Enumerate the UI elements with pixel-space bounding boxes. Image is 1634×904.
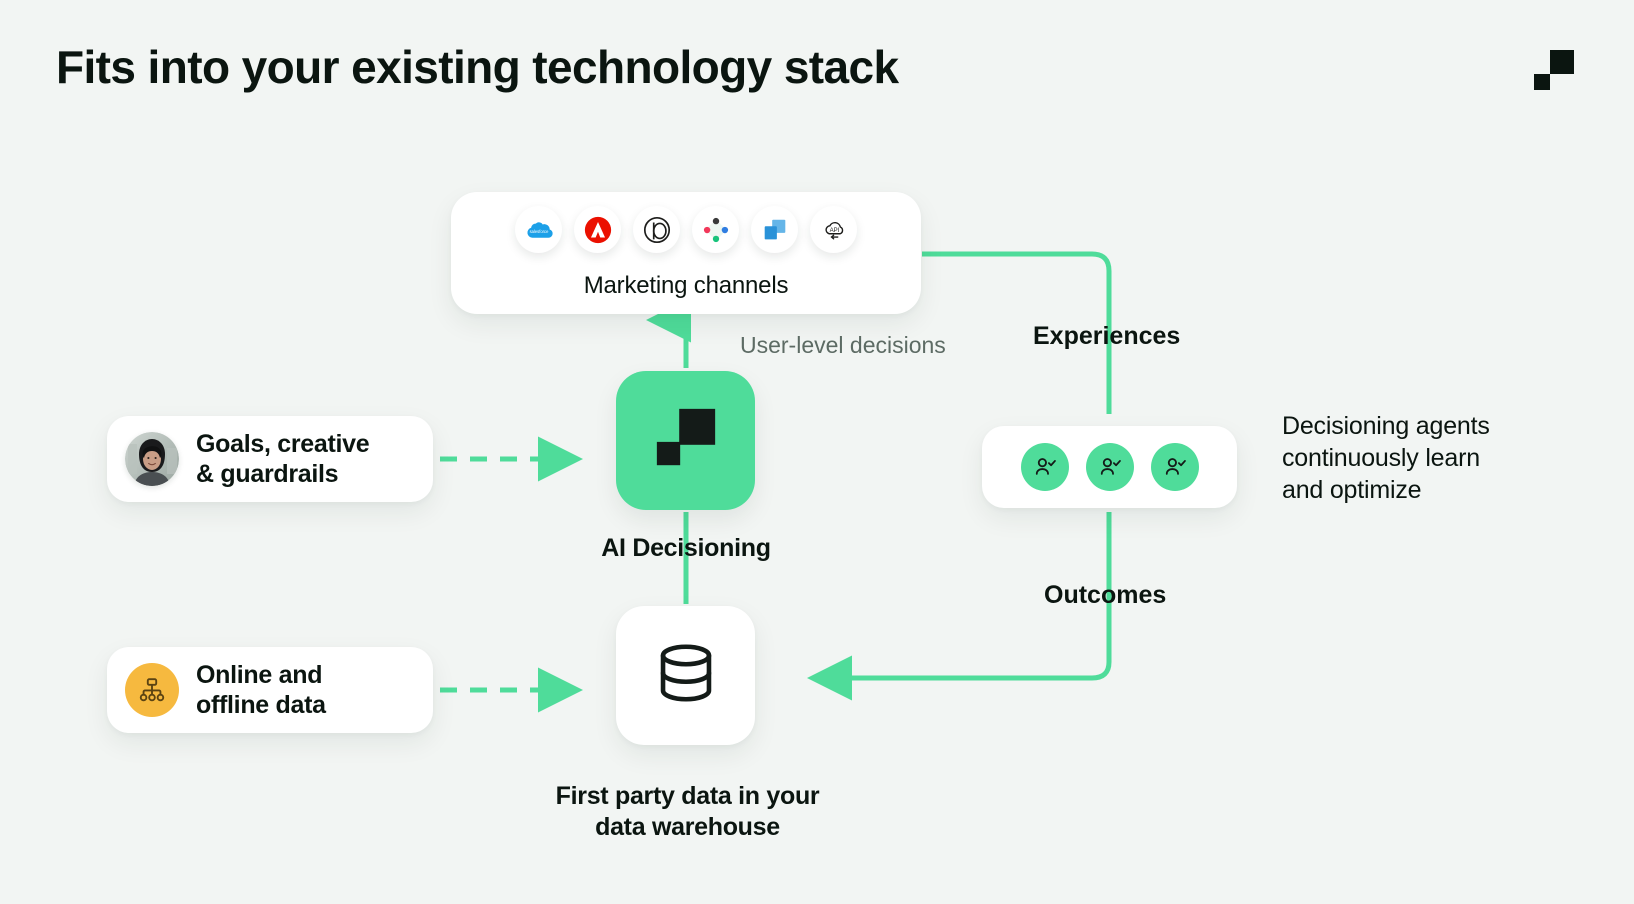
label-outcomes: Outcomes <box>1044 581 1166 610</box>
side-note-line1: Decisioning agents <box>1282 412 1490 440</box>
goals-line2: & guardrails <box>196 460 338 488</box>
iterable-squares-icon[interactable] <box>751 206 798 253</box>
api-cloud-icon[interactable]: API <box>810 206 857 253</box>
svg-text:salesforce: salesforce <box>529 228 548 233</box>
side-note-line2: continuously learn <box>1282 444 1480 472</box>
marketing-channels-label: Marketing channels <box>451 272 921 300</box>
decisioning-agents-card[interactable] <box>982 426 1237 508</box>
adobe-icon[interactable] <box>574 206 621 253</box>
data-line1: Online and <box>196 661 322 689</box>
goals-line1: Goals, creative <box>196 430 369 458</box>
user-check-icon[interactable] <box>1021 443 1069 491</box>
label-user-level-decisions: User-level decisions <box>740 332 946 359</box>
db-label-line1: First party data in your <box>556 782 820 810</box>
user-check-icon[interactable] <box>1151 443 1199 491</box>
diagram-canvas: Fits into your existing technology stack <box>0 0 1634 904</box>
user-check-icon[interactable] <box>1086 443 1134 491</box>
input-card-goals-text: Goals, creative & guardrails <box>196 429 369 489</box>
channel-icon-row: salesforce <box>451 206 921 253</box>
brand-squares-mark-icon <box>1532 48 1576 92</box>
input-card-data[interactable]: Online and offline data <box>107 647 433 733</box>
segment-diamond-icon[interactable] <box>692 206 739 253</box>
person-photo-avatar <box>125 432 179 486</box>
data-line2: offline data <box>196 691 326 719</box>
input-card-data-text: Online and offline data <box>196 660 326 720</box>
brand-squares-mark-icon <box>652 404 720 477</box>
data-warehouse-label: First party data in your data warehouse <box>460 781 915 842</box>
svg-text:API: API <box>829 226 839 233</box>
ai-decisioning-label: AI Decisioning <box>500 534 872 563</box>
sitemap-hierarchy-icon <box>125 663 179 717</box>
salesforce-icon[interactable]: salesforce <box>515 206 562 253</box>
side-note-text: Decisioning agents continuously learn an… <box>1282 410 1582 506</box>
braze-icon[interactable] <box>633 206 680 253</box>
marketing-channels-card[interactable]: salesforce <box>451 192 921 314</box>
db-label-line2: data warehouse <box>595 813 780 841</box>
database-cylinder-icon <box>651 638 721 713</box>
side-note-line3: and optimize <box>1282 476 1421 504</box>
page-title: Fits into your existing technology stack <box>56 40 898 94</box>
ai-decisioning-node[interactable] <box>616 371 755 510</box>
input-card-goals[interactable]: Goals, creative & guardrails <box>107 416 433 502</box>
label-experiences: Experiences <box>1033 322 1180 351</box>
data-warehouse-node[interactable] <box>616 606 755 745</box>
